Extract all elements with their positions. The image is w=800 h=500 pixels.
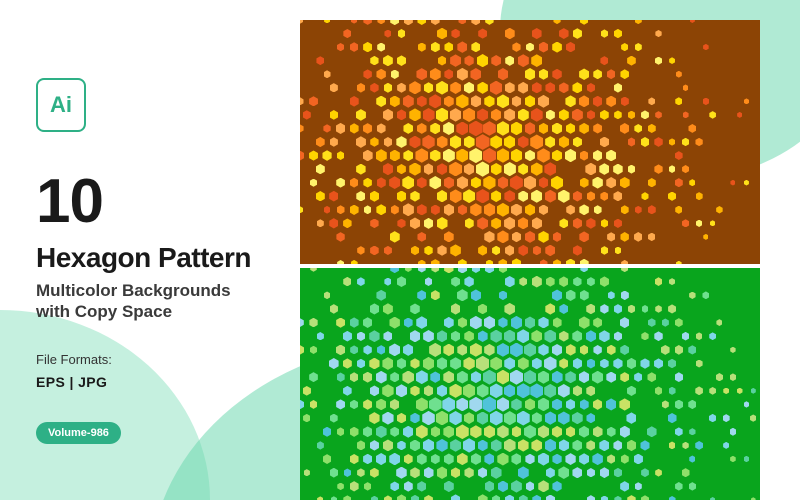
hexagon-dot — [710, 220, 715, 226]
hexagon-dot — [476, 356, 489, 371]
hexagon-dot — [396, 467, 407, 479]
hexagon-dot — [370, 440, 379, 451]
hexagon-dot — [530, 134, 543, 149]
hexagon-dot — [498, 176, 509, 188]
hexagon-dot — [470, 343, 482, 357]
hexagon-dot — [545, 303, 555, 314]
hexagon-dot — [669, 278, 675, 285]
hexagon-dot — [457, 176, 468, 189]
hexagon-dot — [695, 138, 702, 146]
hexagon-dot — [730, 347, 735, 353]
hexagon-dot — [300, 318, 304, 327]
hexagon-dot — [730, 428, 737, 436]
hexagon-dot — [418, 260, 426, 264]
hexagon-dot — [531, 162, 543, 175]
hexagon-dot — [336, 123, 346, 134]
hexagon-dot — [444, 231, 454, 242]
hexagon-dot — [675, 151, 683, 160]
hexagon-dot — [464, 55, 473, 66]
hexagon-dot — [552, 426, 562, 438]
preview-panel-orange[interactable] — [300, 20, 760, 264]
hexagon-dot — [337, 483, 344, 491]
hexagon-dot — [682, 165, 689, 173]
hexagon-dot — [371, 496, 378, 500]
hexagon-dot — [410, 303, 420, 314]
hexagon-dot — [464, 136, 475, 149]
hexagon-dot — [675, 372, 684, 382]
hexagon-dot — [424, 385, 434, 396]
hexagon-dot — [397, 413, 406, 424]
hexagon-dot — [410, 413, 419, 424]
hexagon-dot — [389, 176, 400, 189]
hexagon-dot — [450, 135, 462, 149]
hexagon-dot — [300, 400, 304, 409]
hexagon-dot — [463, 384, 476, 399]
hexagon-dot — [532, 82, 542, 93]
hexagon-dot — [628, 137, 636, 146]
hexagon-dot — [559, 276, 568, 287]
hexagon-dot — [470, 425, 481, 438]
hexagon-dot — [403, 95, 414, 108]
hexagon-dot — [648, 178, 656, 187]
hexagon-dot — [457, 68, 468, 81]
hexagon-dot — [689, 455, 695, 462]
hexagon-dot — [424, 246, 432, 256]
hexagon-dot — [655, 386, 663, 395]
hexagon-dot — [416, 68, 427, 80]
hexagon-dot — [464, 276, 473, 287]
hexagon-dot — [402, 371, 414, 384]
hexagon-dot — [410, 217, 420, 229]
hexagon-dot — [539, 42, 548, 53]
hexagon-dot — [552, 399, 562, 411]
hexagon-dot — [478, 467, 487, 478]
hexagon-dot — [423, 439, 434, 452]
hexagon-dot — [546, 277, 555, 287]
hexagon-dot — [497, 230, 508, 243]
hexagon-dot — [443, 344, 454, 356]
hexagon-dot — [403, 203, 414, 216]
hexagon-dot — [641, 495, 649, 500]
hexagon-dot — [532, 217, 543, 229]
hexagon-dot — [559, 358, 568, 369]
hexagon-dot — [465, 218, 474, 229]
hexagon-dot — [316, 164, 325, 174]
hexagon-dot — [559, 331, 568, 342]
hexagon-dot — [416, 316, 427, 329]
hexagon-dot — [566, 344, 576, 356]
hexagon-dot — [682, 468, 690, 477]
hexagon-dot — [641, 332, 648, 340]
hexagon-dot — [668, 413, 677, 423]
hexagon-dot — [709, 332, 716, 340]
hexagon-dot — [397, 358, 407, 369]
hexagon-dot — [532, 28, 542, 39]
hexagon-dot — [322, 150, 331, 161]
hexagon-dot — [456, 149, 468, 163]
hexagon-dot — [525, 204, 535, 216]
hexagon-dot — [538, 398, 550, 412]
hexagon-dot — [635, 43, 642, 51]
hexagon-dot — [470, 203, 481, 216]
hexagon-dot — [377, 345, 385, 355]
hexagon-dot — [350, 345, 358, 354]
hexagon-dot — [436, 439, 447, 452]
hexagon-dot — [606, 398, 617, 410]
hexagon-dot — [478, 440, 488, 452]
hexagon-dot — [641, 137, 650, 147]
hexagon-dot — [350, 454, 359, 464]
hexagon-dot — [424, 163, 434, 174]
hexagon-dot — [737, 112, 742, 118]
hexagon-dot — [463, 108, 475, 122]
page-title: Hexagon Pattern — [36, 242, 296, 274]
hexagon-dot — [397, 494, 407, 500]
hexagon-dot — [356, 191, 365, 202]
hexagon-dot — [628, 305, 636, 314]
hexagon-dot — [357, 246, 364, 255]
hexagon-dot — [655, 469, 662, 477]
hexagon-dot — [505, 245, 514, 256]
hexagon-dot — [437, 245, 446, 256]
hexagon-dot — [444, 453, 454, 464]
page-subtitle: Multicolor Backgrounds with Copy Space — [36, 280, 296, 323]
hexagon-dot — [449, 384, 461, 398]
hexagon-dot — [682, 332, 690, 341]
hexagon-dot — [635, 482, 642, 490]
hexagon-dot — [545, 136, 555, 148]
hexagon-dot — [478, 330, 488, 342]
hexagon-dot — [580, 20, 588, 25]
hexagon-dot — [417, 96, 427, 107]
hexagon-dot — [437, 28, 447, 40]
hexagon-dot — [436, 81, 448, 95]
hexagon-dot — [356, 164, 366, 175]
hexagon-dot — [343, 331, 352, 342]
hexagon-dot — [456, 398, 468, 412]
hexagon-dot — [553, 232, 562, 242]
hexagon-dot — [512, 426, 522, 437]
hexagon-dot — [525, 454, 534, 465]
hexagon-dot — [411, 495, 420, 500]
hexagon-dot — [303, 386, 311, 396]
hexagon-dot — [337, 372, 345, 381]
hexagon-dot — [350, 205, 359, 215]
hexagon-dot — [323, 124, 330, 132]
hexagon-dot — [430, 150, 440, 162]
hexagon-dot — [397, 191, 407, 202]
hexagon-dot — [599, 440, 609, 452]
hexagon-dot — [552, 42, 562, 53]
hexagon-dot — [484, 425, 495, 438]
hexagon-dot — [324, 206, 331, 214]
hexagon-dot — [648, 205, 656, 214]
ai-badge-label: Ai — [50, 92, 72, 118]
hexagon-dot — [587, 359, 596, 369]
hexagon-dot — [300, 151, 304, 161]
hexagon-dot — [329, 218, 338, 228]
hexagon-dot — [559, 28, 569, 39]
hexagon-dot — [309, 372, 318, 382]
hexagon-dot — [593, 123, 602, 133]
hexagon-dot — [559, 218, 568, 228]
preview-panel-green[interactable] — [300, 268, 760, 500]
hexagon-dot — [370, 191, 380, 202]
hexagon-dot — [552, 481, 561, 492]
info-column: Ai 10 Hexagon Pattern Multicolor Backgro… — [36, 78, 296, 444]
hexagon-dot — [363, 372, 373, 383]
hexagon-dot — [457, 344, 467, 356]
hexagon-dot — [565, 371, 576, 383]
hexagon-dot — [317, 219, 324, 227]
hexagon-dot — [382, 357, 393, 370]
hexagon-dot — [621, 454, 629, 463]
hexagon-dot — [431, 268, 439, 273]
hexagon-dot — [383, 303, 393, 314]
hexagon-dot — [424, 218, 434, 229]
hexagon-dot — [573, 358, 583, 369]
hexagon-dot — [620, 481, 629, 491]
hexagon-dot — [484, 453, 494, 465]
hexagon-dot — [309, 318, 317, 328]
hexagon-dot — [418, 268, 426, 273]
hexagon-dot — [675, 482, 683, 491]
hexagon-dot — [303, 414, 310, 423]
hexagon-dot — [484, 344, 494, 356]
hexagon-dot — [545, 245, 555, 257]
hexagon-dot — [431, 290, 440, 300]
hexagon-dot — [553, 20, 560, 24]
hexagon-dot — [485, 20, 493, 25]
hexagon-dot — [471, 20, 480, 25]
hexagon-dot — [566, 399, 576, 410]
hexagon-dot — [383, 109, 393, 121]
hexagon-dot — [384, 278, 391, 286]
hexagon-dot — [457, 453, 468, 465]
hexagon-dot — [662, 400, 669, 408]
hexagon-dot — [594, 205, 602, 214]
hexagon-dot — [641, 468, 649, 477]
hexagon-dot — [376, 149, 387, 162]
hexagon-dot — [709, 111, 716, 119]
hexagon-dot — [532, 412, 542, 424]
hexagon-dot — [300, 206, 303, 213]
hexagon-dot — [376, 371, 387, 384]
hexagon-dot — [437, 466, 448, 479]
hexagon-dot — [512, 232, 521, 243]
hexagon-dot — [390, 372, 399, 382]
hexagon-dot — [497, 203, 509, 217]
hexagon-dot — [669, 57, 675, 64]
hexagon-dot — [511, 480, 522, 492]
hexagon-dot — [703, 44, 709, 50]
hexagon-dot — [390, 427, 399, 437]
hexagon-dot — [324, 291, 331, 299]
hexagon-dot — [410, 330, 421, 342]
hexagon-dot — [351, 20, 357, 24]
file-formats-label: File Formats: — [36, 352, 296, 367]
hexagon-dot — [350, 317, 359, 327]
hexagon-dot — [601, 496, 609, 500]
hexagon-dot — [518, 136, 529, 148]
hexagon-dot — [600, 192, 608, 201]
hexagon-dot — [444, 177, 455, 189]
hexagon-dot — [451, 494, 461, 500]
hexagon-dot — [716, 319, 722, 326]
hexagon-dot — [437, 330, 447, 342]
hexagon-dot — [430, 371, 440, 382]
hexagon-dot — [614, 468, 622, 478]
hexagon-dot — [620, 232, 628, 242]
hexagon-dot — [592, 177, 602, 189]
hexagon-dot — [458, 20, 466, 24]
hexagon-dot — [566, 42, 575, 53]
hexagon-dot — [675, 318, 683, 327]
hexagon-dot — [518, 82, 528, 94]
hexagon-dot — [723, 388, 729, 395]
hexagon-dot — [613, 358, 622, 369]
hexagon-dot — [723, 414, 730, 422]
hexagon-dot — [517, 383, 530, 398]
hexagon-dot — [505, 495, 514, 500]
hexagon-dot — [517, 329, 529, 343]
hexagon-dot — [593, 317, 602, 327]
hexagon-dot — [458, 259, 467, 264]
hexagon-dot — [499, 268, 508, 273]
hexagon-dot — [546, 495, 556, 500]
hexagon-dot — [518, 217, 529, 229]
hexagon-dot — [519, 495, 528, 500]
hexagon-dot — [531, 190, 542, 203]
hexagon-dot — [463, 438, 475, 452]
hexagon-dot — [579, 426, 589, 438]
hexagon-dot — [648, 318, 656, 327]
hexagon-dot — [472, 268, 481, 273]
hexagon-dot — [350, 481, 359, 491]
hexagon-dot — [490, 330, 501, 343]
hexagon-dot — [531, 330, 542, 342]
hexagon-dot — [497, 370, 510, 385]
hexagon-dot — [449, 162, 462, 177]
hexagon-dot — [304, 469, 310, 476]
hexagon-dot — [730, 180, 735, 186]
hexagon-dot — [483, 148, 496, 163]
hexagon-dot — [587, 468, 595, 477]
hexagon-dot — [458, 268, 468, 273]
hexagon-dot — [423, 357, 435, 370]
hexagon-dot — [444, 317, 454, 328]
hexagon-dot — [450, 82, 461, 94]
hexagon-dot — [634, 454, 643, 465]
hexagon-dot — [343, 29, 351, 38]
hexagon-dot — [476, 134, 490, 150]
hexagon-dot — [477, 82, 488, 94]
hexagon-dot — [606, 96, 616, 107]
hexagon-dot — [498, 317, 507, 328]
hexagon-dot — [497, 148, 510, 163]
hexagon-dot — [497, 94, 509, 108]
hexagon-dot — [337, 427, 345, 436]
hexagon-dot — [675, 400, 684, 410]
hexagon-dot — [539, 177, 549, 188]
hexagon-dot — [572, 82, 582, 93]
hexagon-dot — [464, 331, 474, 342]
hexagon-dot — [397, 441, 406, 451]
hexagon-dot — [668, 304, 676, 313]
hexagon-dot — [518, 163, 528, 175]
hexagon-dot — [485, 268, 494, 273]
hexagon-dot — [477, 108, 488, 121]
hexagon-dot — [538, 317, 548, 329]
hexagon-dot — [484, 203, 496, 217]
hexagon-dot — [552, 289, 562, 301]
hexagon-dot — [587, 277, 595, 286]
hexagon-dot — [606, 372, 616, 383]
hexagon-dot — [530, 383, 543, 398]
hexagon-dot — [336, 318, 345, 328]
hexagon-dot — [443, 122, 454, 135]
hexagon-dot — [431, 20, 440, 25]
hexagon-dot — [450, 189, 462, 203]
hexagon-dot — [648, 97, 655, 105]
hexagon-dot — [525, 231, 535, 243]
hexagon-dot — [553, 317, 562, 327]
hexagon-dot — [499, 291, 507, 301]
hexagon-dot — [397, 109, 407, 120]
hexagon-dot — [580, 268, 588, 272]
hexagon-dot — [431, 205, 440, 215]
hexagon-dot — [669, 387, 676, 395]
hexagon-dot — [491, 55, 501, 66]
hexagon-dot — [457, 41, 467, 53]
hexagon-dot — [552, 123, 562, 135]
hexagon-dot — [458, 204, 467, 215]
hexagon-dot — [504, 384, 515, 397]
hexagon-dot — [498, 481, 508, 493]
hexagon-dot — [423, 108, 435, 122]
hexagon-dot — [580, 345, 589, 355]
hexagon-dot — [628, 165, 636, 174]
hexagon-dot — [417, 232, 426, 242]
hexagon-dot — [558, 384, 570, 398]
hexagon-dot — [526, 481, 535, 491]
hexagon-dot — [544, 162, 556, 176]
hexagon-dot — [573, 191, 582, 202]
hexagon-dot — [404, 20, 413, 25]
hexagon-dot — [647, 372, 656, 382]
hexagon-dot — [579, 204, 588, 215]
hexagon-dot — [497, 397, 509, 411]
hexagon-dot — [566, 290, 576, 301]
hexagon-dot — [579, 123, 589, 134]
hexagon-dot — [552, 69, 561, 80]
hexagon-dot — [356, 109, 366, 121]
hexagon-dot — [436, 411, 449, 426]
hexagon-dot — [600, 56, 608, 65]
hexagon-dot — [510, 175, 523, 190]
hexagon-dot — [573, 137, 582, 148]
hexagon-dot — [614, 304, 622, 314]
hexagon-dot — [592, 371, 603, 384]
hexagon-dot — [627, 56, 636, 66]
hexagon-dot — [626, 412, 636, 424]
hexagon-dot — [478, 28, 487, 38]
hexagon-dot — [621, 268, 628, 272]
hexagon-dot — [606, 177, 616, 188]
hexagon-dot — [357, 277, 365, 286]
hexagon-dot — [539, 205, 548, 215]
hexagon-dot — [456, 94, 468, 108]
